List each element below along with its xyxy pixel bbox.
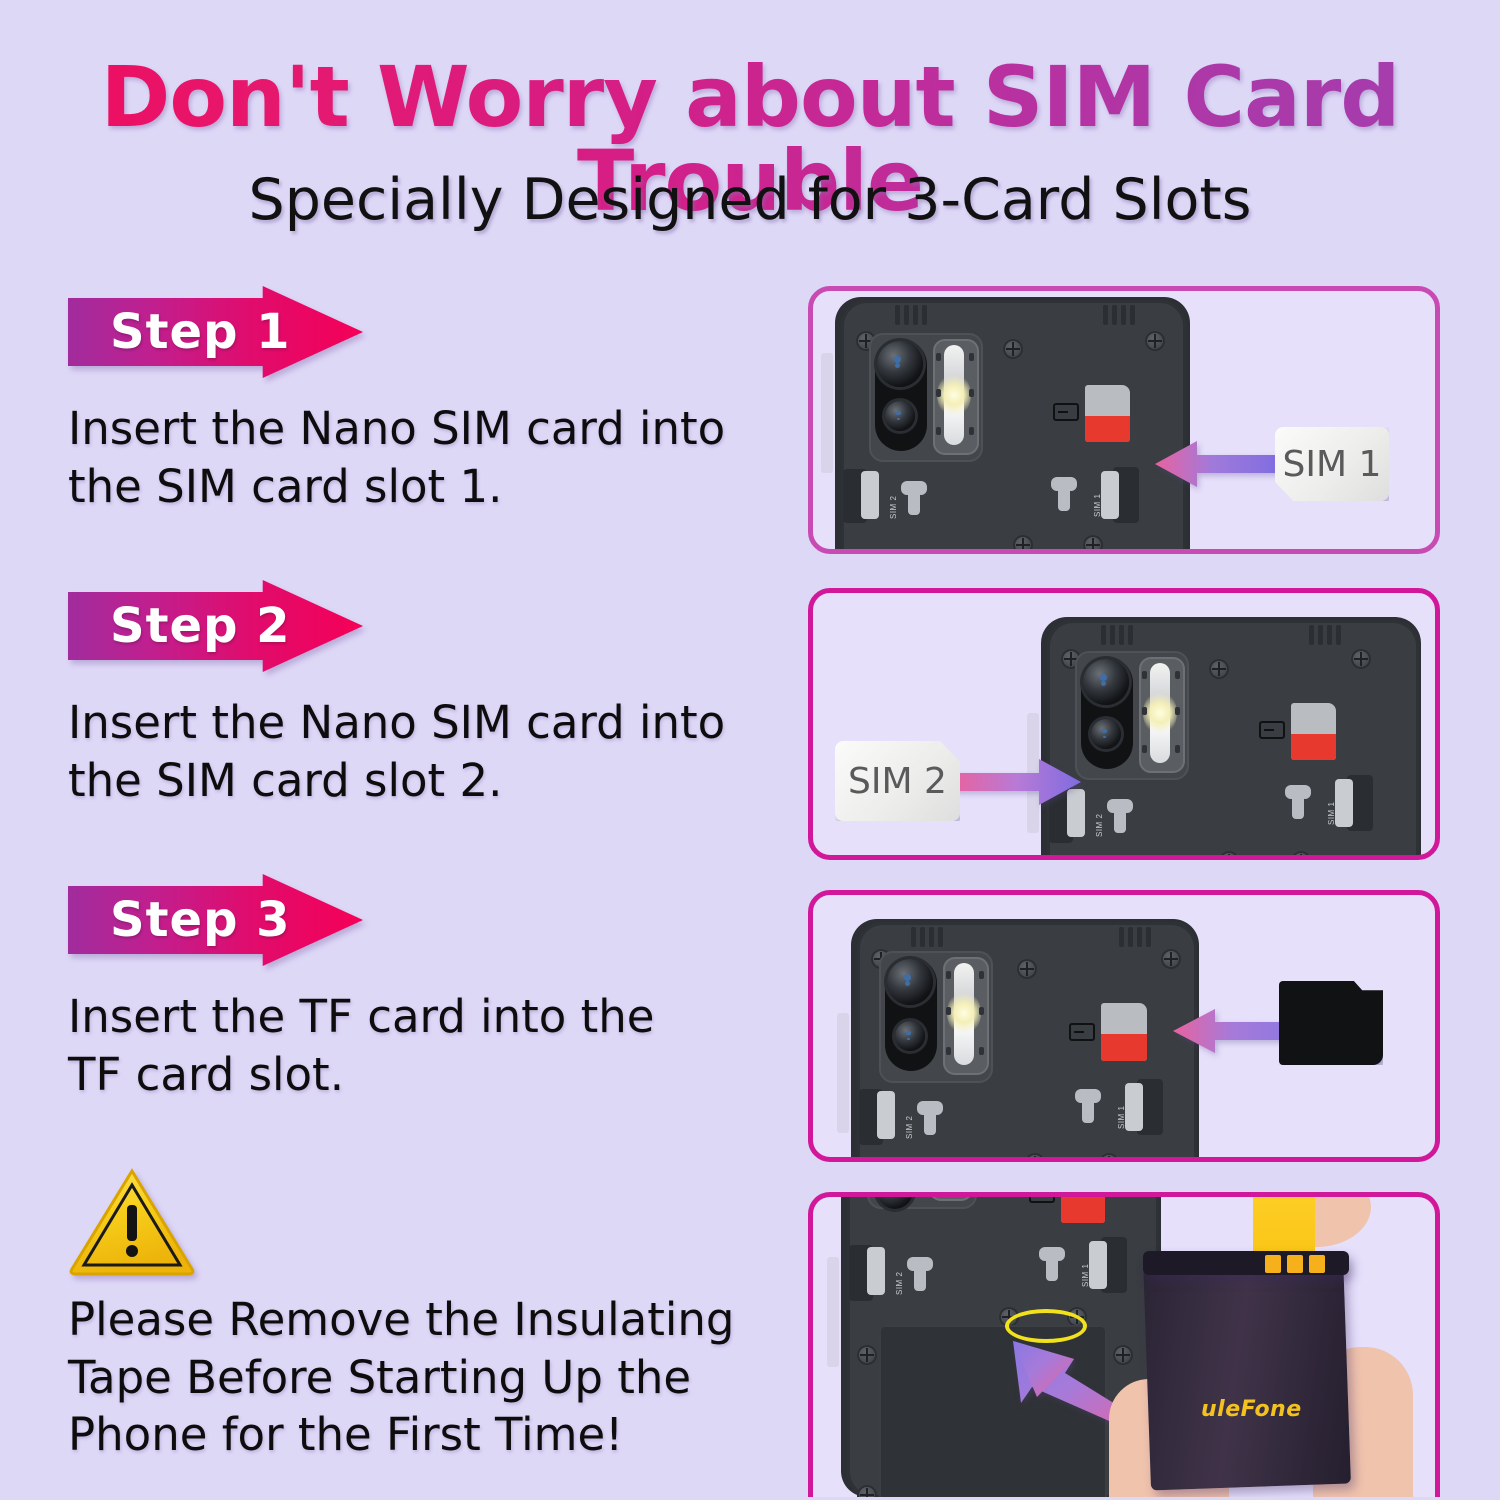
step-2-badge: Step 2 <box>68 580 363 672</box>
warning-triangle-icon <box>68 1165 196 1277</box>
step-2: Step 2 Insert the Nano SIM card into the… <box>68 580 363 809</box>
eject-icon <box>1029 1192 1055 1203</box>
phone-grille-right <box>1119 927 1153 947</box>
sim1-slot-label: SIM 1 <box>1117 1106 1126 1129</box>
eject-icon <box>1259 721 1285 739</box>
illustration-panel-step-1: SIM 2 SIM 1 SIM 1 <box>808 286 1440 554</box>
phone-grille-left <box>911 927 945 947</box>
sim2-tray-clip <box>861 471 879 519</box>
illustration-panel-step-2: SIM 2 SIM 1 SIM 2 <box>808 588 1440 860</box>
step-2-badge-label: Step 2 <box>68 598 291 654</box>
phone-screw <box>1351 649 1371 669</box>
battery-brand-label: uleFone <box>1201 1397 1302 1422</box>
camera-lens-secondary <box>895 1021 925 1051</box>
phone-screw <box>1209 659 1229 679</box>
sim2-card: SIM 2 <box>835 741 960 821</box>
insert-arrow-sim1 <box>1153 439 1283 489</box>
warning-text: Please Remove the Insulating Tape Before… <box>68 1291 758 1464</box>
phone-screw <box>1017 959 1037 979</box>
sim1-slot-label: SIM 1 <box>1081 1264 1090 1287</box>
phone-grille-left <box>1101 625 1135 645</box>
phone-battery <box>1143 1254 1351 1491</box>
step-1-badge: Step 1 <box>68 286 363 378</box>
flash-glow <box>937 373 971 417</box>
insert-arrow-sim2 <box>953 757 1083 807</box>
step-1-badge-label: Step 1 <box>68 304 291 360</box>
step-3-badge: Step 3 <box>68 874 363 966</box>
step-3-badge-label: Step 3 <box>68 892 291 948</box>
phone-grille-right <box>1103 305 1137 325</box>
tf-card-in-slot <box>1101 1003 1147 1061</box>
sim2-slot-label: SIM 2 <box>895 1272 904 1295</box>
sim1-tray-clip <box>1101 471 1119 519</box>
illustration-panel-step-3: SIM 2 SIM 1 <box>808 890 1440 1162</box>
phone-screw <box>1083 535 1103 554</box>
step-3: Step 3 Insert the TF card into the TF ca… <box>68 874 363 1103</box>
tf-card-in-slot <box>1061 1192 1105 1223</box>
step-1: Step 1 Insert the Nano SIM card into the… <box>68 286 363 515</box>
page-subtitle: Specially Designed for 3-Card Slots <box>0 172 1500 229</box>
sim1-latch-stem <box>1082 1099 1094 1123</box>
sim2-tray-clip <box>877 1091 895 1139</box>
battery-contact <box>1309 1255 1325 1273</box>
sim2-card-label: SIM 2 <box>848 761 947 802</box>
sim2-latch-stem <box>914 1267 926 1291</box>
sim1-latch-stem <box>1292 795 1304 819</box>
phone-screw <box>1161 949 1181 969</box>
sim1-latch-stem <box>1058 487 1070 511</box>
flash-module <box>929 1192 973 1201</box>
sim2-latch-stem <box>908 491 920 515</box>
sim1-latch-stem <box>1046 1257 1058 1281</box>
phone-side-button <box>827 1257 839 1367</box>
flash-glow <box>947 991 981 1035</box>
phone-grille-right <box>1309 625 1343 645</box>
sim1-card: SIM 1 <box>1275 427 1389 501</box>
phone-screw <box>1003 339 1023 359</box>
phone-side-button <box>821 353 833 473</box>
step-2-text: Insert the Nano SIM card into the SIM ca… <box>68 694 748 809</box>
sim2-slot-label: SIM 2 <box>905 1116 914 1139</box>
steps-column: Step 1 Insert the Nano SIM card into the… <box>0 270 780 1500</box>
eject-icon <box>1053 403 1079 421</box>
battery-door <box>869 549 1139 554</box>
camera-lens-main <box>877 341 923 387</box>
sim2-latch-stem <box>1114 809 1126 833</box>
step-1-text: Insert the Nano SIM card into the SIM ca… <box>68 400 728 515</box>
warning-block: Please Remove the Insulating Tape Before… <box>68 1165 758 1464</box>
phone-screw <box>1145 331 1165 351</box>
battery-contact <box>1265 1255 1281 1273</box>
phone-screw <box>857 1345 877 1365</box>
sim1-card-label: SIM 1 <box>1283 444 1382 485</box>
illustration-panel-warning: SIM 2 SIM 1 uleFone <box>808 1192 1440 1497</box>
sim1-tray-clip <box>1335 779 1353 827</box>
flash-glow <box>1143 691 1177 735</box>
sim1-tray-clip <box>1089 1241 1107 1289</box>
tf-card-external <box>1279 981 1383 1065</box>
sim1-tray-clip <box>1125 1083 1143 1131</box>
sim2-slot-label: SIM 2 <box>1095 814 1104 837</box>
step-3-text: Insert the TF card into the TF card slot… <box>68 988 728 1103</box>
phone-grille-left <box>895 305 929 325</box>
eject-icon <box>1069 1023 1095 1041</box>
tf-card-in-slot <box>1085 385 1130 442</box>
sim2-tray-clip <box>867 1247 885 1295</box>
sim1-slot-label: SIM 1 <box>1327 802 1336 825</box>
sim2-latch-stem <box>924 1111 936 1135</box>
sim1-slot-label: SIM 1 <box>1093 494 1102 517</box>
camera-lens-secondary <box>1091 719 1121 749</box>
camera-lens-main <box>1083 659 1129 705</box>
camera-lens-main <box>887 959 933 1005</box>
phone-screw <box>1013 535 1033 554</box>
battery-contact <box>1287 1255 1303 1273</box>
sim2-slot-label: SIM 2 <box>889 496 898 519</box>
phone-side-button <box>837 1013 849 1133</box>
tf-card-in-slot <box>1291 703 1336 760</box>
camera-lens-secondary <box>885 401 915 431</box>
page-header: Don't Worry about SIM Card Trouble Speci… <box>0 0 1500 260</box>
